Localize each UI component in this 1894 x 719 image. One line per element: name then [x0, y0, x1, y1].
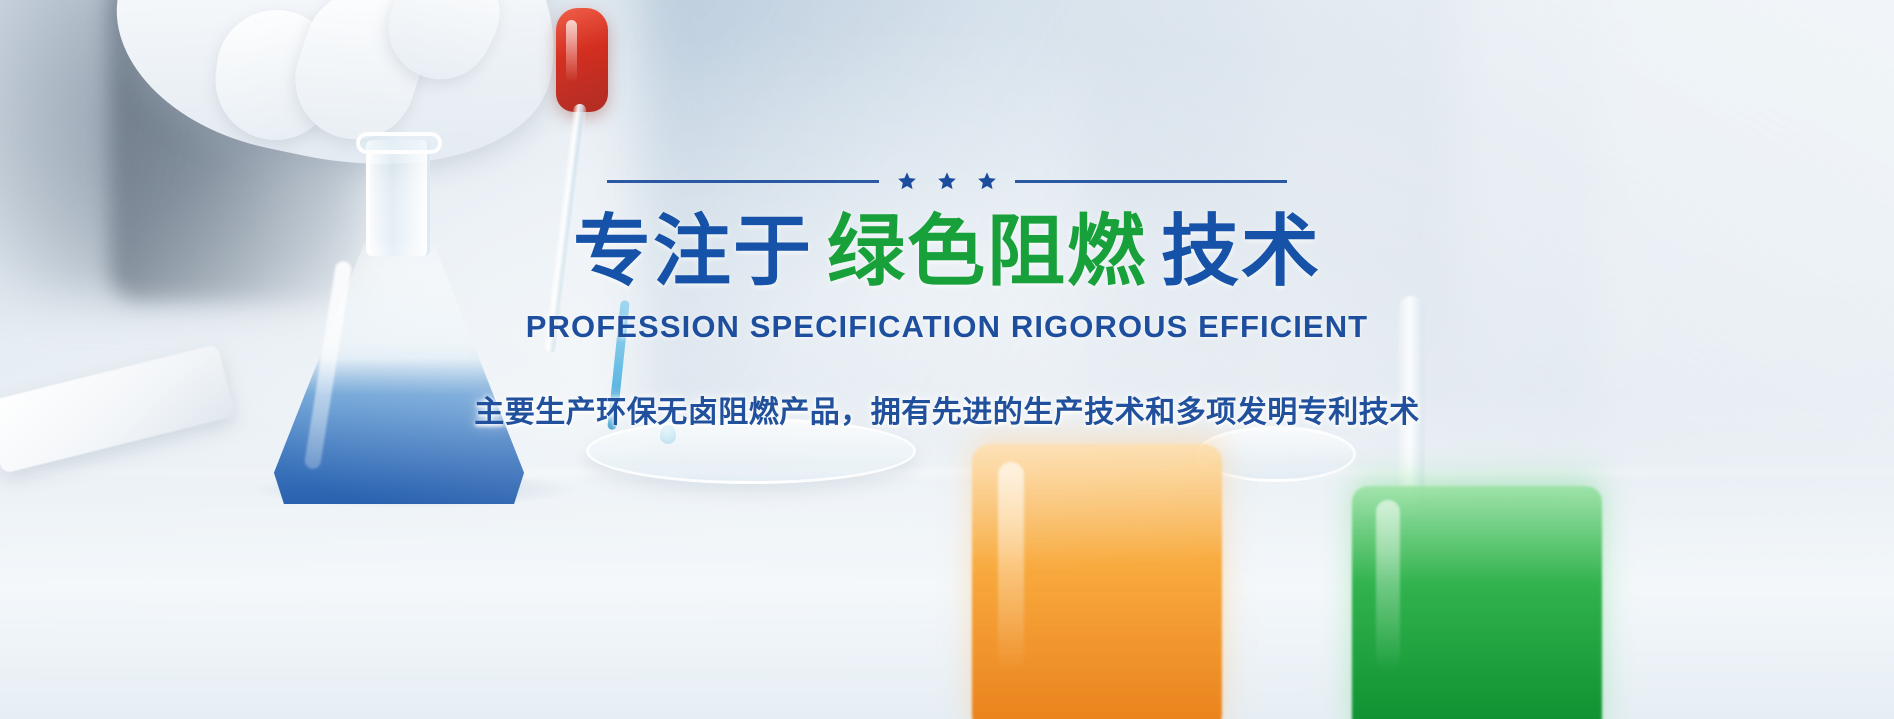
headline-part-3: 技术 — [1161, 207, 1321, 295]
star-icon — [897, 171, 917, 191]
hero-banner: 专注于绿色阻燃技术 PROFESSION SPECIFICATION RIGOR… — [0, 0, 1894, 719]
divider-rule-left — [607, 180, 879, 183]
hero-content: 专注于绿色阻燃技术 PROFESSION SPECIFICATION RIGOR… — [0, 0, 1894, 719]
star-icon — [937, 171, 957, 191]
star-icon — [977, 171, 997, 191]
headline-part-2: 绿色阻燃 — [827, 207, 1147, 295]
description-text: 主要生产环保无卤阻燃产品，拥有先进的生产技术和多项发明专利技术 — [474, 387, 1420, 431]
divider-rule-right — [1015, 180, 1287, 183]
subtitle-english: PROFESSION SPECIFICATION RIGOROUS EFFICI… — [526, 309, 1368, 345]
headline-part-1: 专注于 — [573, 207, 813, 295]
star-divider — [607, 168, 1287, 194]
divider-stars — [897, 171, 997, 191]
page-title: 专注于绿色阻燃技术 — [573, 208, 1321, 295]
